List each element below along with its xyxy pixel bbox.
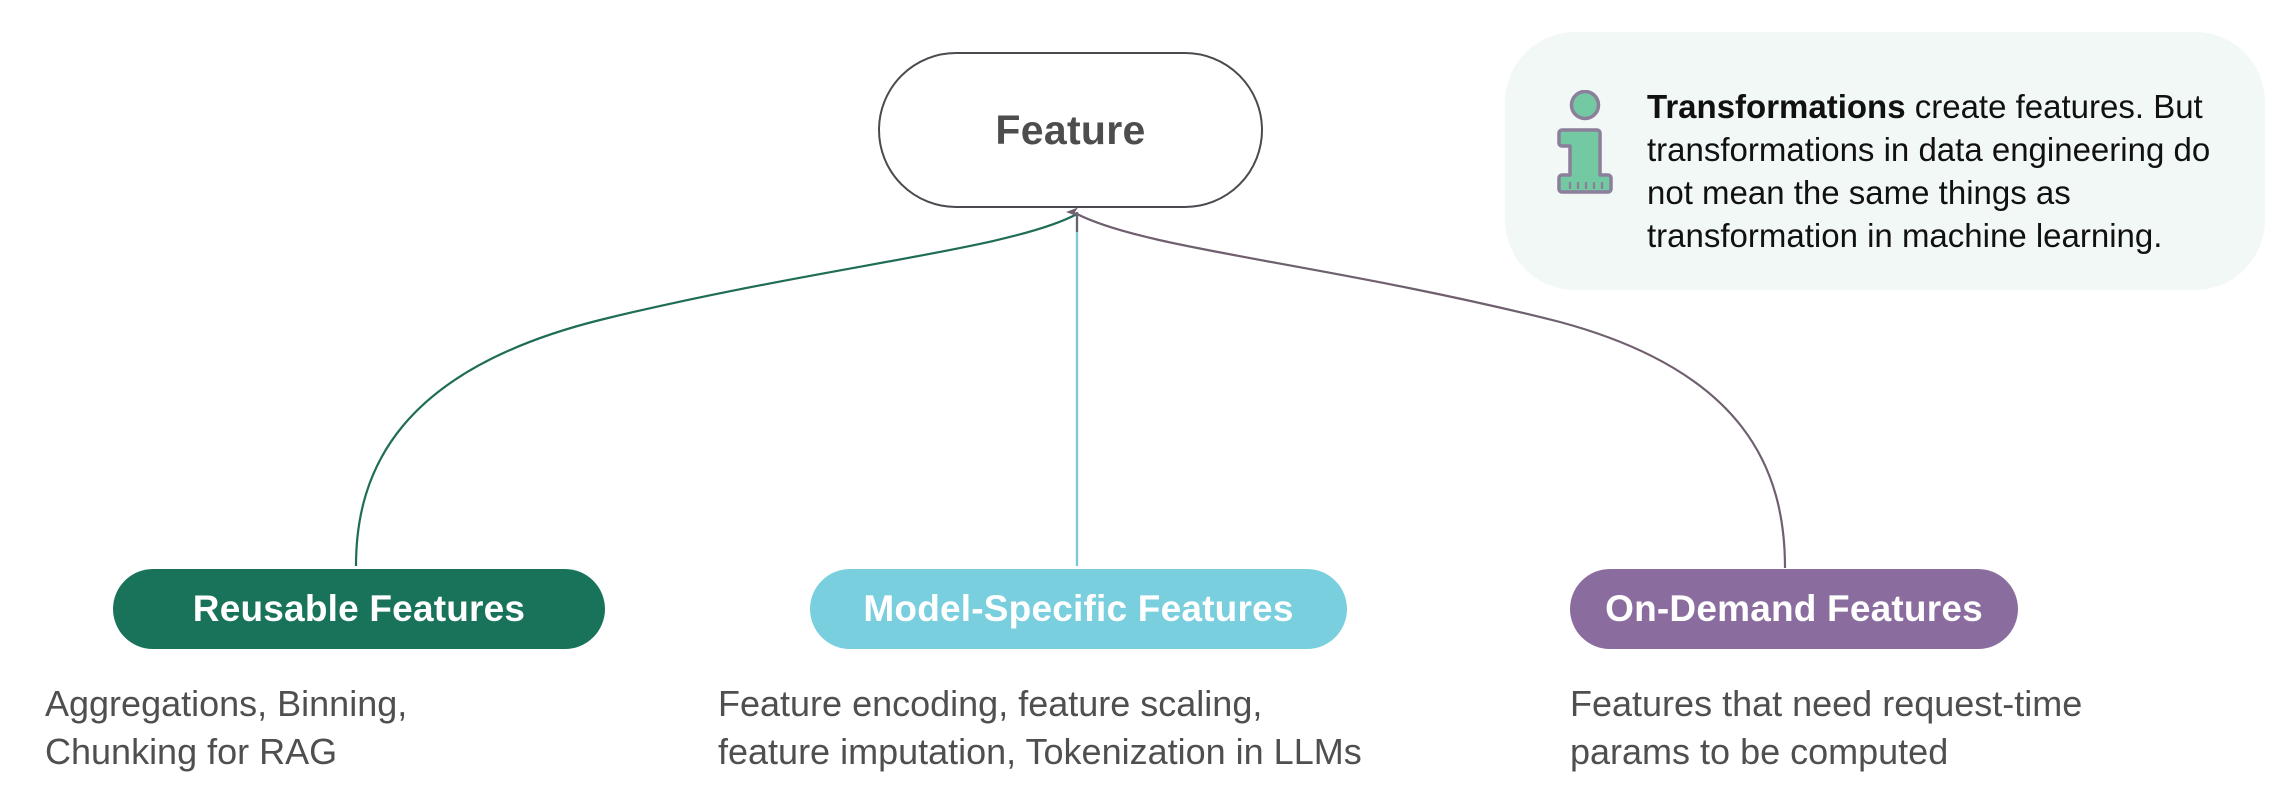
info-callout: Transformations create features. But tra… [1505, 32, 2265, 290]
node-model-specific-features[interactable]: Model-Specific Features [810, 569, 1347, 649]
root-node-label: Feature [995, 107, 1145, 154]
edge-to-reusable-features [356, 214, 1077, 566]
node-label: On-Demand Features [1605, 588, 1983, 630]
diagram-canvas: Feature Reusable Features Model-Specific… [0, 0, 2292, 806]
info-callout-lead: Transformations [1647, 88, 1906, 125]
info-icon [1553, 90, 1617, 196]
description-model-specific-features: Feature encoding, feature scaling, featu… [718, 680, 1538, 776]
node-label: Model-Specific Features [863, 588, 1293, 630]
description-on-demand-features: Features that need request-time params t… [1570, 680, 2270, 776]
node-reusable-features[interactable]: Reusable Features [113, 569, 605, 649]
info-callout-text: Transformations create features. But tra… [1647, 84, 2219, 258]
description-reusable-features: Aggregations, Binning, Chunking for RAG [45, 680, 685, 776]
node-label: Reusable Features [193, 588, 525, 630]
root-node-feature[interactable]: Feature [878, 52, 1263, 208]
node-on-demand-features[interactable]: On-Demand Features [1570, 569, 2018, 649]
